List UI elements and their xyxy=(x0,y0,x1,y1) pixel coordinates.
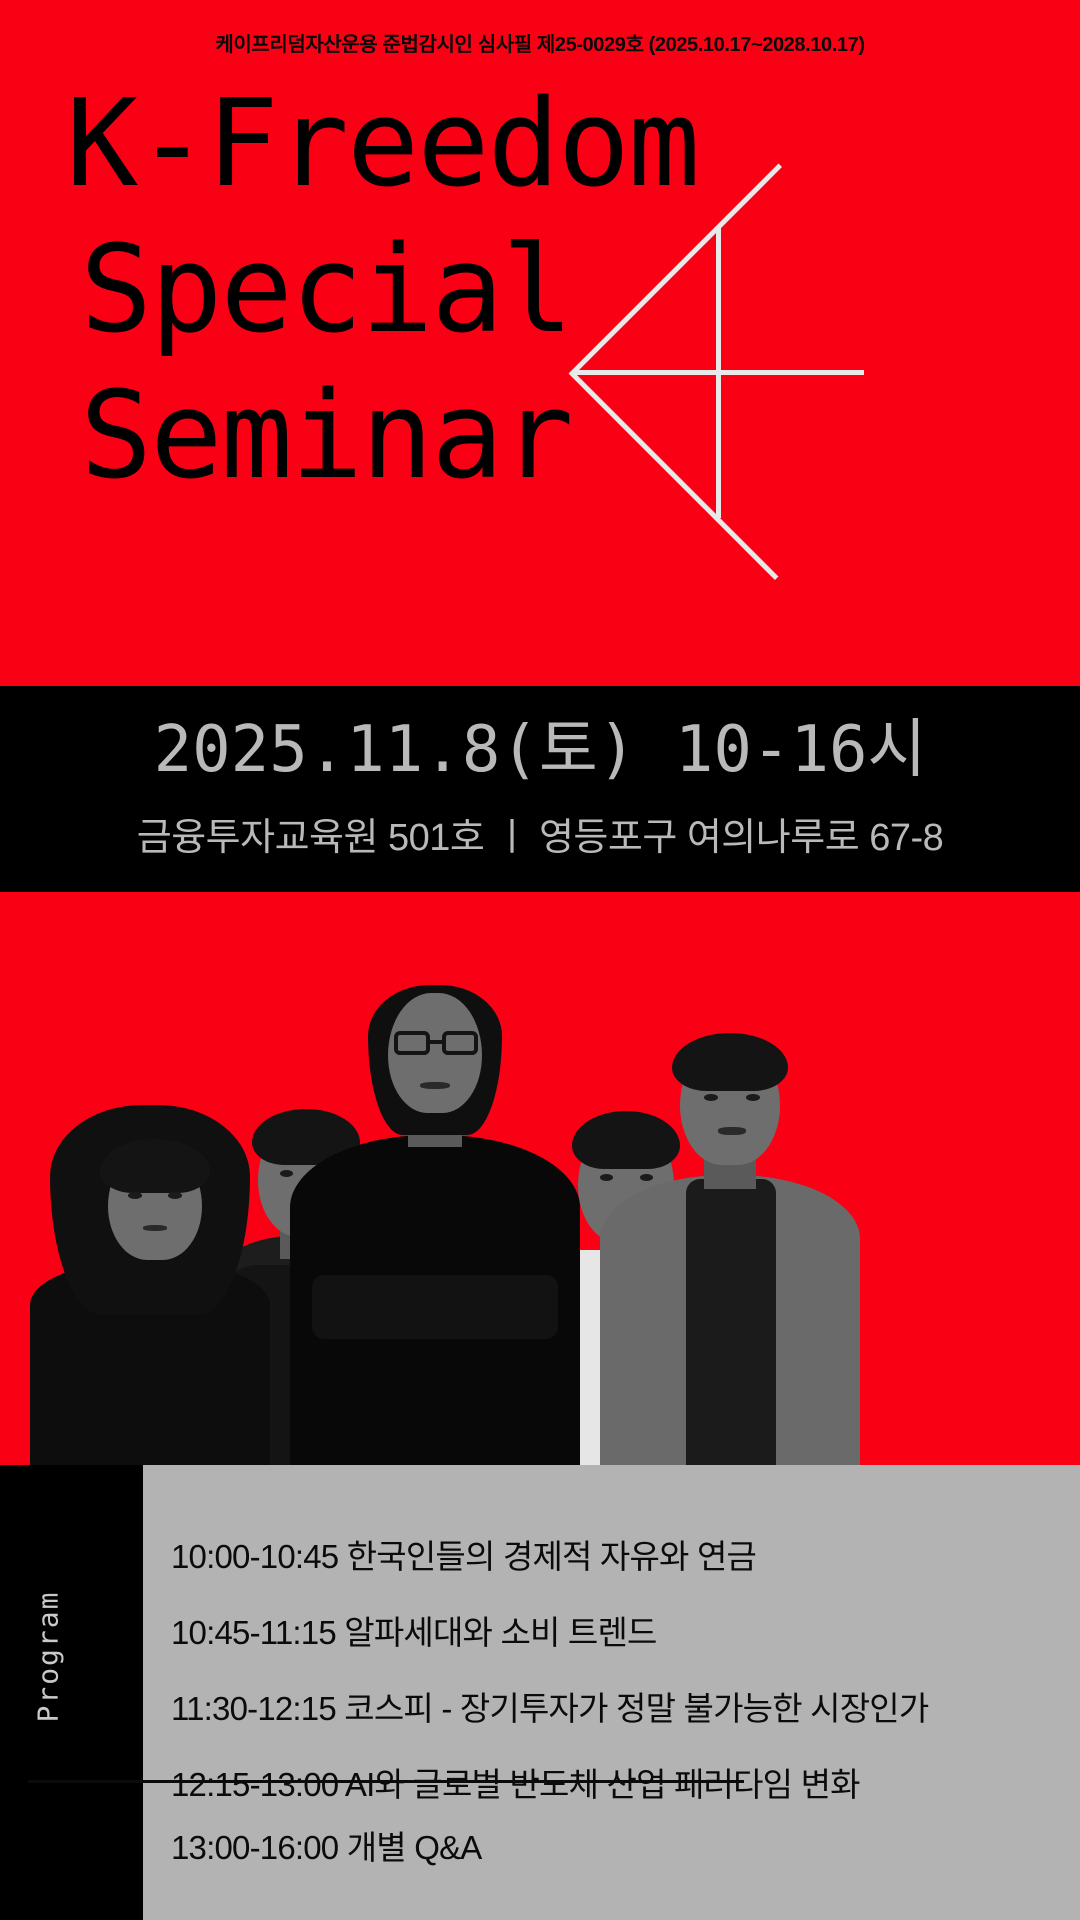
speaker-photo-band xyxy=(0,892,1080,1465)
program-item: 10:00-10:45 한국인들의 경제적 자유와 연금 xyxy=(171,1537,1080,1577)
program-item: 12:15-13:00 AI와 글로벌 반도체 산업 패러다임 변화 xyxy=(171,1765,1080,1805)
program-footer-item: 13:00-16:00 개별 Q&A xyxy=(171,1828,482,1868)
speaker-portrait-5 xyxy=(600,975,860,1465)
poster-title: K-Freedom Special Seminar xyxy=(62,72,1022,510)
speaker-portrait-3 xyxy=(290,920,580,1465)
program-list: 10:00-10:45 한국인들의 경제적 자유와 연금 10:45-11:15… xyxy=(171,1537,1080,1841)
event-venue: 금융투자교육원 501호 ㅣ 영등포구 여의나루로 67-8 xyxy=(0,815,1080,861)
title-line-3: Seminar xyxy=(62,364,1022,510)
seminar-poster: 케이프리덤자산운용 준법감시인 심사필 제25-0029호 (2025.10.1… xyxy=(0,0,1080,1920)
title-line-2: Special xyxy=(62,218,1022,364)
event-date: 2025.11.8(토) 10-16시 xyxy=(0,714,1080,786)
program-section-label: Program xyxy=(32,1557,65,1757)
program-divider xyxy=(28,1780,744,1783)
speaker-portrait-1 xyxy=(30,1065,270,1465)
program-item: 10:45-11:15 알파세대와 소비 트렌드 xyxy=(171,1613,1080,1653)
compliance-notice: 케이프리덤자산운용 준법감시인 심사필 제25-0029호 (2025.10.1… xyxy=(0,28,1080,57)
program-item: 11:30-12:15 코스피 - 장기투자가 정말 불가능한 시장인가 xyxy=(171,1689,1080,1729)
hero-banner: 케이프리덤자산운용 준법감시인 심사필 제25-0029호 (2025.10.1… xyxy=(0,0,1080,686)
program-side-strip: Program xyxy=(0,1465,143,1920)
event-info-band: 2025.11.8(토) 10-16시 금융투자교육원 501호 ㅣ 영등포구 … xyxy=(0,686,1080,892)
title-line-1: K-Freedom xyxy=(62,72,1022,218)
